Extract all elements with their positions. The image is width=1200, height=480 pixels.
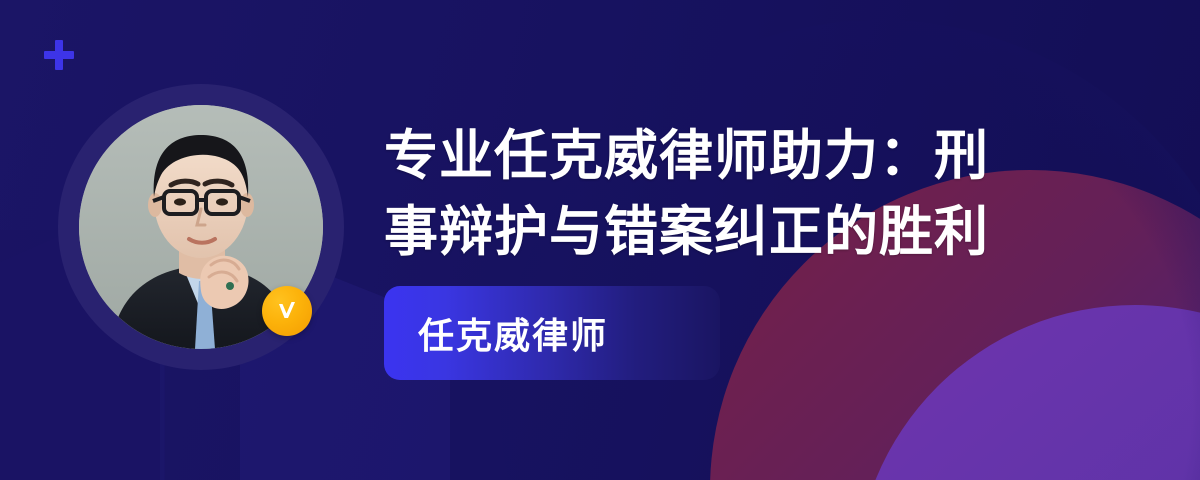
lawyer-name-button[interactable]: 任克威律师 (384, 286, 720, 380)
promo-banner: 专业任克威律师助力：刑 事辩护与错案纠正的胜利 任克威律师 (0, 0, 1200, 480)
verified-badge (262, 286, 312, 336)
banner-content: 专业任克威律师助力：刑 事辩护与错案纠正的胜利 任克威律师 (384, 118, 1084, 380)
avatar (58, 84, 344, 370)
page-title: 专业任克威律师助力：刑 事辩护与错案纠正的胜利 (384, 118, 1084, 270)
verified-check-icon (272, 296, 302, 326)
plus-icon (44, 40, 74, 70)
